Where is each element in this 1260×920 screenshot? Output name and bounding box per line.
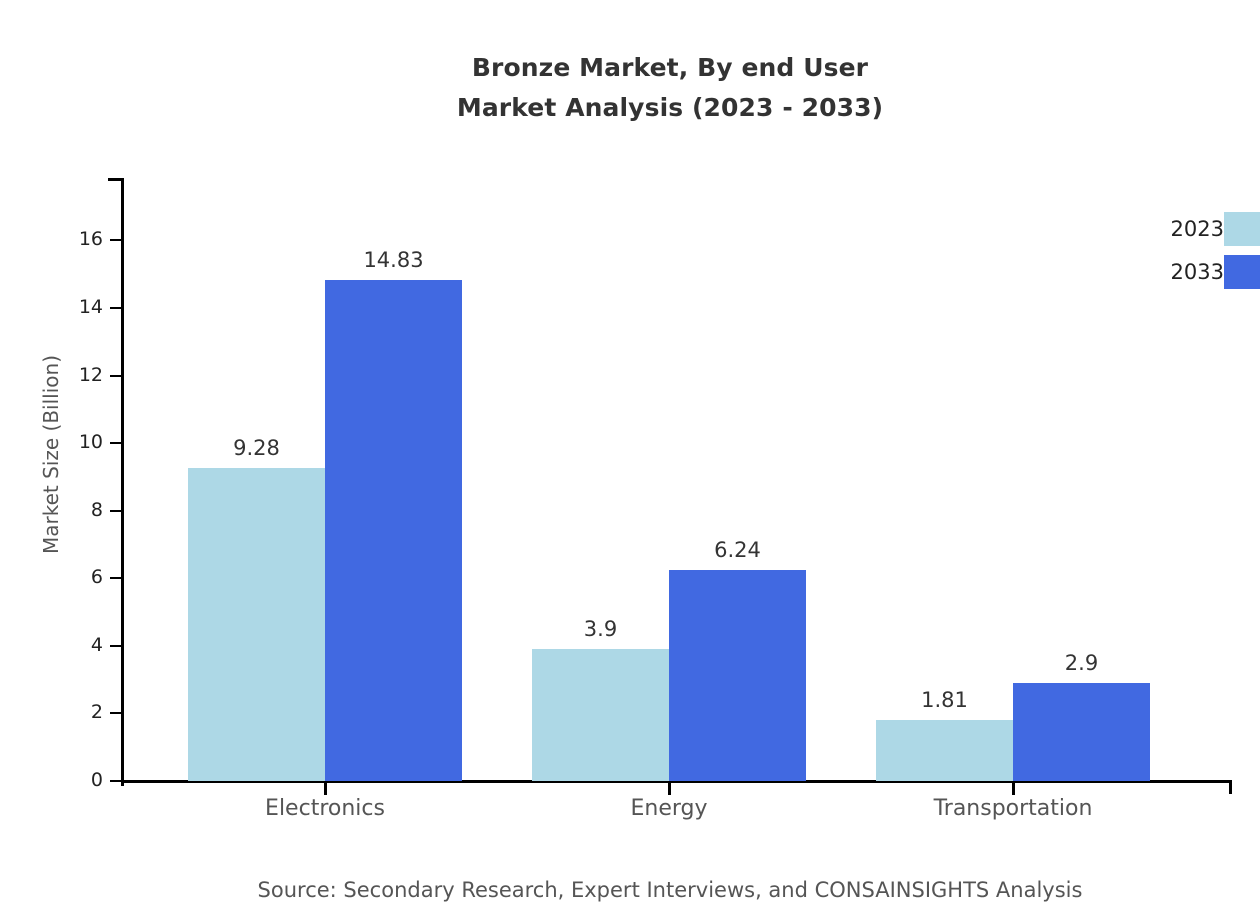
bar-value-label: 6.24 bbox=[609, 538, 866, 562]
bar-transportation-2033[interactable] bbox=[1013, 683, 1150, 781]
legend-item-2033[interactable]: 2033 bbox=[1100, 255, 1260, 289]
y-tick-label: 6 bbox=[91, 568, 103, 587]
x-tick-mark bbox=[668, 783, 671, 795]
x-tick-label-transportation: Transportation bbox=[863, 795, 1163, 823]
bar-value-label: 14.83 bbox=[265, 248, 522, 272]
y-tick-label: 14 bbox=[79, 298, 103, 317]
bar-value-label: 2.9 bbox=[953, 651, 1210, 675]
chart-legend: 20232033 bbox=[1100, 212, 1260, 312]
x-axis-end-cap bbox=[1229, 780, 1232, 794]
x-tick-label-electronics: Electronics bbox=[175, 795, 475, 823]
x-tick-mark bbox=[324, 783, 327, 795]
bar-electronics-2023[interactable] bbox=[188, 468, 325, 781]
chart-page: Bronze Market, By end User Market Analys… bbox=[0, 0, 1260, 920]
source-note: Source: Secondary Research, Expert Inter… bbox=[0, 876, 1260, 904]
x-tick-mark bbox=[1012, 783, 1015, 795]
y-tick-mark bbox=[110, 645, 121, 647]
legend-swatch-2023 bbox=[1224, 212, 1260, 246]
y-tick-mark bbox=[110, 510, 121, 512]
y-tick-mark bbox=[110, 307, 121, 309]
legend-item-2023[interactable]: 2023 bbox=[1100, 212, 1260, 246]
legend-label-2033: 2033 bbox=[1171, 260, 1224, 284]
bar-energy-2023[interactable] bbox=[532, 649, 669, 781]
legend-swatch-2033 bbox=[1224, 255, 1260, 289]
y-tick-label: 0 bbox=[91, 771, 103, 790]
bar-electronics-2033[interactable] bbox=[325, 280, 462, 781]
x-tick-label-energy: Energy bbox=[519, 795, 819, 823]
y-axis-top-cap bbox=[108, 178, 124, 181]
y-tick-mark bbox=[110, 239, 121, 241]
y-tick-mark bbox=[110, 442, 121, 444]
y-tick-label: 16 bbox=[79, 230, 103, 249]
bar-energy-2033[interactable] bbox=[669, 570, 806, 781]
legend-label-2023: 2023 bbox=[1171, 217, 1224, 241]
y-tick-mark bbox=[110, 375, 121, 377]
y-tick-mark bbox=[110, 712, 121, 714]
y-tick-mark bbox=[110, 577, 121, 579]
y-axis-spine bbox=[121, 178, 124, 786]
y-tick-label: 2 bbox=[91, 703, 103, 722]
bar-transportation-2023[interactable] bbox=[876, 720, 1013, 781]
y-tick-label: 10 bbox=[79, 433, 103, 452]
y-tick-label: 12 bbox=[79, 366, 103, 385]
y-tick-label: 8 bbox=[91, 501, 103, 520]
y-tick-mark bbox=[110, 780, 121, 782]
plot-area: 0246810121416 ElectronicsEnergyTransport… bbox=[0, 0, 1260, 920]
y-tick-label: 4 bbox=[91, 636, 103, 655]
